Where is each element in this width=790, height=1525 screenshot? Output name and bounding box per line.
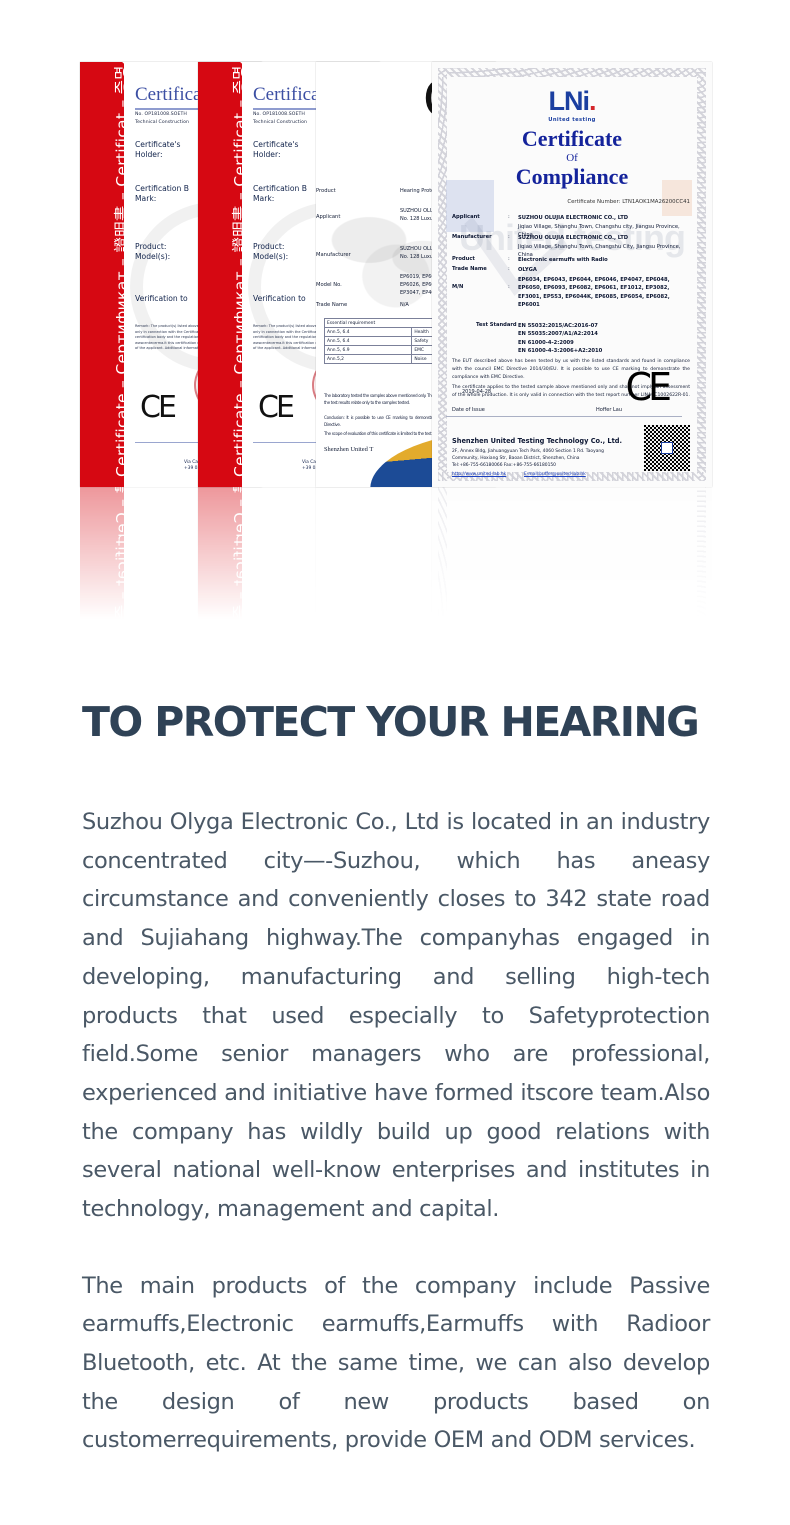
- certificate-red-sidebar: Certificate – Сертификат – 證明書 – Certifi…: [198, 62, 242, 487]
- ce-mark-icon: CE: [140, 390, 174, 425]
- field-colon: :: [508, 256, 510, 262]
- doc-row-label: Model No.: [316, 282, 342, 288]
- issue-date-label: Date of Issue: [452, 407, 485, 413]
- field-label-model-number: M/N: [452, 284, 463, 290]
- ce-mark-icon: CE: [625, 365, 668, 409]
- doc-row-label: Product: [316, 188, 336, 194]
- field-colon: :: [508, 214, 510, 220]
- field-label-applicant: Applicant: [452, 214, 480, 220]
- field-label-test-standard: Test Standard: [476, 322, 517, 328]
- certificate-number-value: LTN1AOK1MA26200CC41: [622, 199, 690, 205]
- field-value-model-number: EP6034, EP6043, EP6044, EP6046, EP4047, …: [518, 276, 694, 309]
- table-cell: Ann.5, 6.4: [325, 337, 412, 346]
- lni-logo-mark: LNi.: [432, 88, 712, 115]
- certificate-title-line2: Of: [432, 152, 712, 164]
- signer-name: Hoffer Lau: [596, 407, 622, 413]
- reflection-lni-certificate: Shenzhen United Testing Technology Co., …: [432, 487, 712, 637]
- qr-code-icon: [644, 425, 690, 471]
- field-verification: Verification to: [135, 294, 188, 304]
- certificate-number: No. OP181008.SOETH: [253, 112, 305, 117]
- organization-email-link[interactable]: E-mail:buffer@united-lab.hk: [524, 472, 586, 477]
- field-product: Product: Model(s):: [253, 242, 288, 263]
- table-cell: Ann.5, 6.4: [325, 328, 412, 337]
- certificate-subtitle: Technical Construction: [253, 120, 307, 125]
- footer-divider: [446, 416, 682, 417]
- doc-row-label: Applicant: [316, 214, 340, 220]
- field-value-applicant: SUZHOU OLUJIA ELECTRONIC CO., LTD: [518, 214, 694, 222]
- signature-row: Date of Issue Hoffer Lau: [452, 407, 622, 413]
- organization-address: 2F, Annex Bldg, Jiahuangyuan Tech Park, …: [452, 448, 604, 469]
- certificate-title-line1: Certificate: [432, 126, 712, 152]
- about-paragraph-2: The main products of the company include…: [82, 1267, 710, 1460]
- lni-logo-subtitle: United testing: [432, 117, 712, 123]
- certificate-reflection: Certificate – Сертификат – 證明書 – Certifi…: [80, 487, 712, 637]
- field-value-manufacturer: SUZHOU OLUJIA ELECTRONIC CO., LTD: [518, 234, 694, 242]
- field-verification: Verification to: [253, 294, 306, 304]
- field-value-test-standard: EN 55032:2015/AC:2016-07 EN 55035:2007/A…: [518, 322, 694, 355]
- field-label-manufacturer: Manufacturer: [452, 234, 492, 240]
- issue-date-value: 2019-04-28: [462, 389, 491, 395]
- certificate-number: No. OP181008.SOETH: [135, 112, 187, 117]
- field-holder: Certificate's Holder:: [253, 140, 299, 161]
- reflection-inner: Certificate – Сертификат – 證明書 – Certifi…: [80, 487, 712, 637]
- doc-row-label: Trade Name: [316, 302, 347, 308]
- about-company-section: TO PROTECT YOUR HEARING Suzhou Olyga Ele…: [82, 700, 710, 1460]
- reflection-red-sidebar: Certificate – Сертификат – 證明書 – Certifi…: [80, 487, 124, 637]
- lni-logo: LNi. United testing: [432, 88, 712, 123]
- certificate-number-row: Certificate Number: LTN1AOK1MA26200CC41: [567, 199, 690, 205]
- lni-certificate-of-compliance: United testing LNi. United testing Certi…: [432, 62, 712, 487]
- reflection-border-pattern: [438, 487, 706, 631]
- logo-dot: .: [589, 86, 596, 116]
- field-label-product: Product: [452, 256, 475, 262]
- certificate-red-sidebar: Certificate – Сертификат – 證明書 – Certifi…: [80, 62, 124, 487]
- issuing-organization: Shenzhen United Testing Technology Co., …: [452, 437, 622, 445]
- certificate-title-line3: Compliance: [432, 164, 712, 190]
- ce-mark-icon: CE: [258, 390, 292, 425]
- about-paragraph-1: Suzhou Olyga Electronic Co., Ltd is loca…: [82, 803, 710, 1229]
- table-cell: Ann.5,2: [325, 355, 412, 364]
- field-colon: :: [508, 266, 510, 272]
- table-cell: Ann.5, 6.9: [325, 346, 412, 355]
- field-value-product: Electronic earmuffs with Radio: [518, 256, 694, 264]
- certificate-number-label: Certificate Number:: [567, 199, 620, 205]
- doc-row-value: N/A: [400, 302, 409, 310]
- field-colon: :: [508, 234, 510, 240]
- field-label-trade-name: Trade Name: [452, 266, 487, 272]
- organization-website-link[interactable]: http://www.united-lab.hk: [452, 472, 506, 477]
- field-value-trade-name: OLYGA: [518, 266, 694, 274]
- certificate-subtitle: Technical Construction: [135, 120, 189, 125]
- field-mark: Certification B Mark:: [135, 184, 189, 205]
- field-product: Product: Model(s):: [135, 242, 170, 263]
- field-holder: Certificate's Holder:: [135, 140, 181, 161]
- field-mark: Certification B Mark:: [253, 184, 307, 205]
- doc-signature: Shenzhen United T: [324, 446, 373, 453]
- certificate-image-group: Certificate – Сертификат – 證明書 – Certifi…: [80, 62, 712, 487]
- certificate-banner: Certificate – Сертификат – 證明書 – Certifi…: [0, 0, 790, 660]
- reflection-red-sidebar: Certificate – Сертификат – 證明書 – Certifi…: [198, 487, 242, 637]
- doc-row-label: Manufacturer: [316, 252, 351, 258]
- page-title: TO PROTECT YOUR HEARING: [82, 700, 710, 745]
- field-colon: :: [508, 284, 510, 290]
